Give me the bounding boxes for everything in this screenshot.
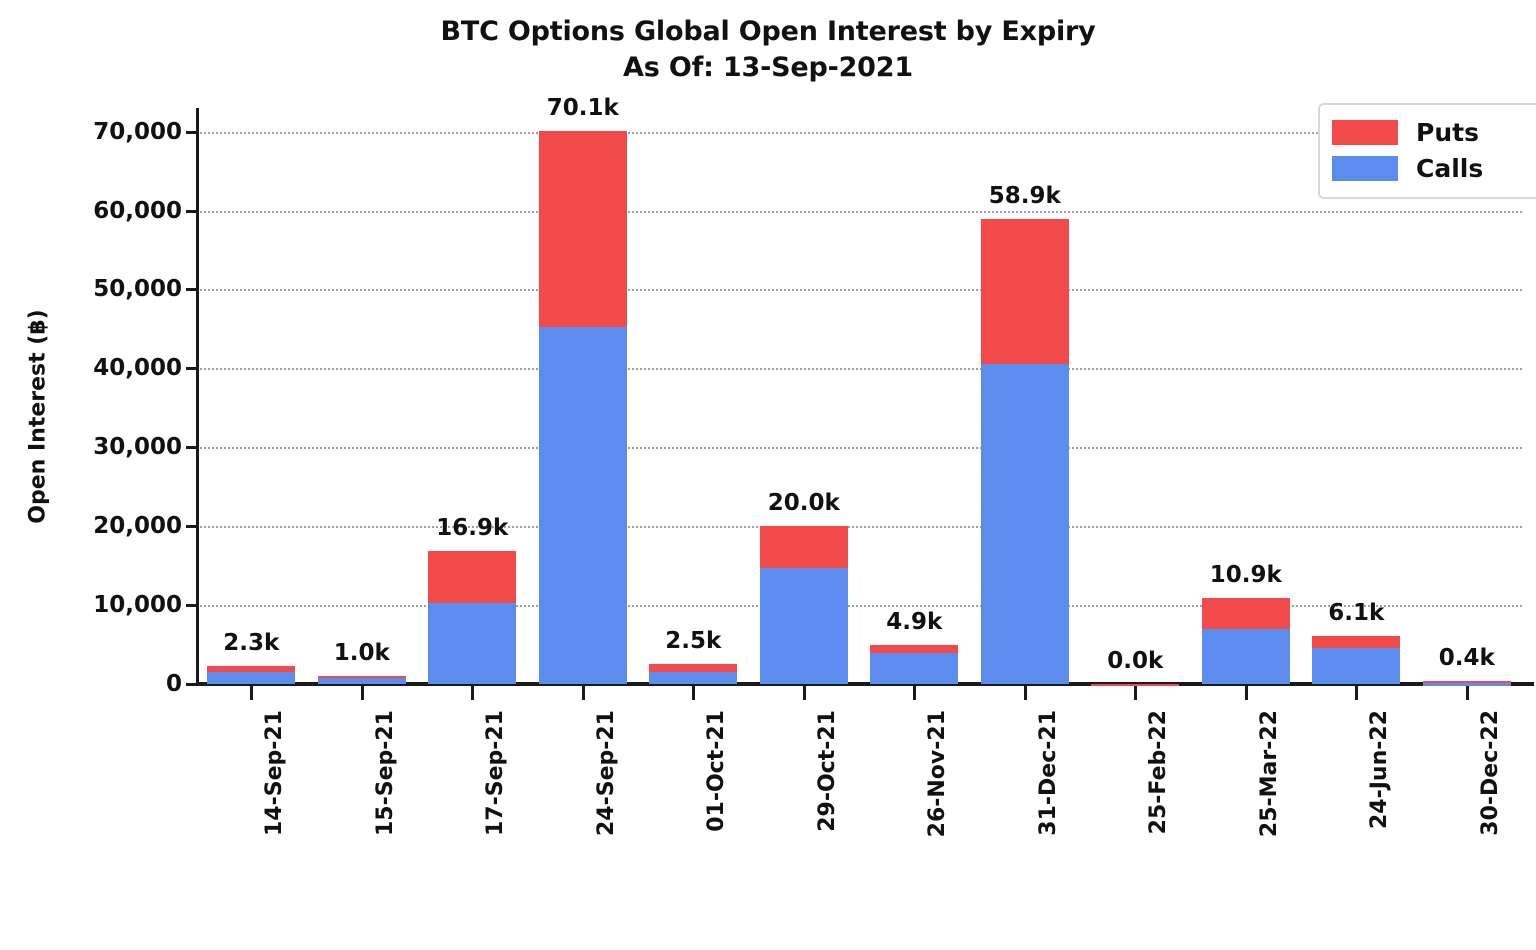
y-axis-tick-label: 40,000 (0, 355, 182, 381)
y-axis-tick-mark (186, 210, 197, 213)
gridline (196, 368, 1522, 370)
chart-figure: BTC Options Global Open Interest by Expi… (0, 0, 1536, 830)
bar-segment-calls[interactable] (981, 364, 1069, 684)
x-axis-tick-label: 29-Oct-21 (815, 710, 840, 950)
bar-segment-puts[interactable] (428, 551, 516, 603)
bar-stack[interactable] (207, 666, 295, 684)
bar-stack[interactable] (1091, 684, 1179, 685)
legend-item[interactable]: Calls (1332, 150, 1536, 186)
y-axis-tick-label: 0 (0, 671, 182, 697)
y-axis-tick-label: 60,000 (0, 198, 182, 224)
y-axis-tick-mark (186, 367, 197, 370)
legend-item[interactable]: Puts (1332, 114, 1536, 150)
x-axis-tick-label: 25-Mar-22 (1257, 710, 1282, 950)
chart-title: BTC Options Global Open Interest by Expi… (0, 14, 1536, 85)
x-axis-tick-mark (692, 686, 695, 700)
bar-stack[interactable] (539, 131, 627, 684)
y-axis-tick-mark (186, 525, 197, 528)
bar-value-label: 58.9k (925, 183, 1125, 209)
bar-value-label: 10.9k (1146, 562, 1346, 588)
x-axis-tick-mark (913, 686, 916, 700)
bar-segment-puts[interactable] (539, 131, 627, 327)
bar-segment-puts[interactable] (981, 219, 1069, 364)
chart-title-main: BTC Options Global Open Interest by Expi… (440, 16, 1095, 47)
x-axis-tick-label: 24-Sep-21 (594, 710, 619, 950)
bar-segment-calls[interactable] (649, 672, 737, 684)
bar-stack[interactable] (649, 664, 737, 684)
x-axis-tick-mark (250, 686, 253, 700)
legend-label: Calls (1416, 154, 1483, 183)
bar-segment-puts[interactable] (649, 664, 737, 672)
x-axis-tick-label: 01-Oct-21 (704, 710, 729, 950)
bar-segment-calls[interactable] (1202, 629, 1290, 684)
x-axis-tick-mark (803, 686, 806, 700)
y-axis-tick-label: 70,000 (0, 119, 182, 145)
y-axis-spine (196, 108, 199, 684)
y-axis-tick-mark (186, 683, 197, 686)
x-axis-tick-mark (1245, 686, 1248, 700)
x-axis-tick-mark (1466, 686, 1469, 700)
legend-swatch (1332, 156, 1398, 181)
gridline (196, 447, 1522, 449)
bar-value-label: 0.4k (1367, 645, 1536, 671)
y-axis-tick-label: 50,000 (0, 276, 182, 302)
x-axis-tick-label: 17-Sep-21 (483, 710, 508, 950)
bar-stack[interactable] (870, 645, 958, 684)
x-axis-tick-label: 30-Dec-22 (1478, 710, 1503, 950)
chart-subtitle: As Of: 13-Sep-2021 (0, 50, 1536, 86)
x-axis-tick-label: 15-Sep-21 (373, 710, 398, 950)
y-axis-tick-mark (186, 131, 197, 134)
x-axis-tick-label: 25-Feb-22 (1146, 710, 1171, 950)
x-axis-tick-mark (582, 686, 585, 700)
x-axis-tick-mark (1355, 686, 1358, 700)
legend-swatch (1332, 120, 1398, 145)
bar-stack[interactable] (1423, 681, 1511, 684)
y-axis-tick-label: 10,000 (0, 592, 182, 618)
x-axis-tick-label: 31-Dec-21 (1036, 710, 1061, 950)
y-axis-tick-mark (186, 604, 197, 607)
x-axis-tick-mark (471, 686, 474, 700)
x-axis-tick-label: 14-Sep-21 (262, 710, 287, 950)
y-axis-tick-label: 20,000 (0, 513, 182, 539)
bar-stack[interactable] (981, 219, 1069, 684)
x-axis-tick-label: 26-Nov-21 (925, 710, 950, 950)
bar-value-label: 6.1k (1256, 600, 1456, 626)
y-axis-tick-label: 30,000 (0, 434, 182, 460)
x-axis-tick-label: 24-Jun-22 (1367, 710, 1392, 950)
y-axis-tick-mark (186, 288, 197, 291)
bar-stack[interactable] (760, 526, 848, 684)
bar-segment-calls[interactable] (207, 672, 295, 684)
legend-label: Puts (1416, 118, 1479, 147)
bar-stack[interactable] (428, 551, 516, 684)
gridline (196, 289, 1522, 291)
gridline (196, 211, 1522, 213)
x-axis-tick-mark (361, 686, 364, 700)
bar-segment-calls[interactable] (318, 678, 406, 684)
y-axis-tick-mark (186, 446, 197, 449)
chart-legend: PutsCalls (1318, 103, 1536, 199)
bar-value-label: 20.0k (704, 490, 904, 516)
bar-segment-calls[interactable] (428, 603, 516, 684)
bar-segment-puts[interactable] (870, 645, 958, 653)
bar-value-label: 70.1k (483, 95, 683, 121)
x-axis-tick-mark (1024, 686, 1027, 700)
bar-segment-calls[interactable] (870, 653, 958, 684)
x-axis-tick-mark (1134, 686, 1137, 700)
bar-stack[interactable] (318, 676, 406, 684)
bar-segment-puts[interactable] (760, 526, 848, 568)
